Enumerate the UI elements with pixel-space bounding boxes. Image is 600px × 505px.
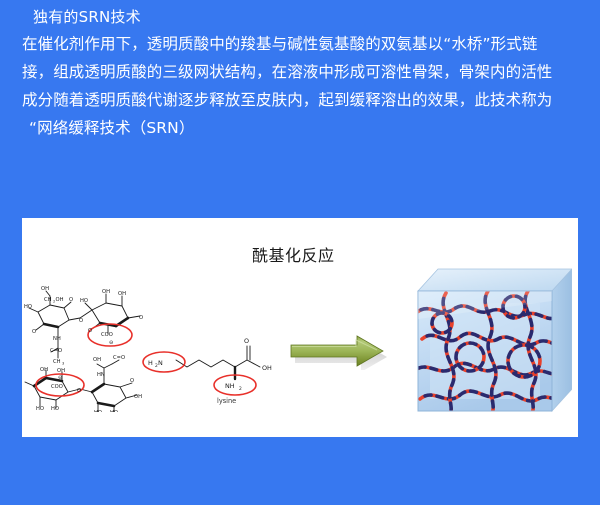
article-text-block: 独有的SRN技术 在催化剂作用下，透明质酸中的羧基与碱性氨基酸的双氨基以“水桥”… xyxy=(0,0,600,142)
figure-title: 酰基化反应 xyxy=(252,246,335,266)
hydrogel-network-cube xyxy=(406,261,572,425)
svg-text:C=O: C=O xyxy=(113,355,125,361)
svg-text:OH: OH xyxy=(102,289,110,295)
reactant-structures-diagram: HO OH CH2OH O O NH C=O CH3 O HO OH OH O … xyxy=(24,282,284,412)
svg-text:HO: HO xyxy=(110,410,118,412)
page-title: 独有的SRN技术 xyxy=(33,6,600,28)
svg-text:O: O xyxy=(139,315,143,321)
svg-text:HN: HN xyxy=(97,372,105,378)
svg-text:CH: CH xyxy=(53,359,61,365)
svg-text:3: 3 xyxy=(62,362,64,366)
svg-text:O: O xyxy=(130,378,134,384)
svg-text:O: O xyxy=(88,328,92,334)
svg-text:OH: OH xyxy=(262,364,272,372)
svg-text:N: N xyxy=(158,359,163,367)
body-line-1: 在催化剂作用下，透明质酸中的羧基与碱性氨基酸的双氨基以“水桥”形式链 xyxy=(22,30,576,58)
body-line-4: “网络缓释技术（SRN） xyxy=(22,114,576,142)
svg-text:HO: HO xyxy=(94,410,102,412)
cube-right-face xyxy=(552,269,572,411)
svg-text:OH: OH xyxy=(134,394,142,400)
svg-text:HO: HO xyxy=(51,406,59,412)
svg-text:NH: NH xyxy=(225,382,235,390)
svg-text:OH: OH xyxy=(40,367,48,373)
svg-text:HO: HO xyxy=(24,304,32,310)
article-body: 在催化剂作用下，透明质酸中的羧基与碱性氨基酸的双氨基以“水桥”形式链 接，组成透… xyxy=(0,30,600,142)
lysine-label: lysine xyxy=(217,397,236,405)
svg-text:⊖: ⊖ xyxy=(58,375,62,381)
svg-text:HO: HO xyxy=(80,298,88,304)
svg-text:H: H xyxy=(148,359,153,367)
svg-text:O: O xyxy=(79,318,83,324)
svg-text:OH: OH xyxy=(57,368,65,374)
body-line-3: 成分随着透明质酸代谢逐步释放至皮肤内，起到缓释溶出的效果，此技术称为 xyxy=(22,86,576,114)
svg-text:CH: CH xyxy=(44,297,52,303)
svg-text:⊖: ⊖ xyxy=(109,340,113,346)
svg-text:O: O xyxy=(32,329,36,335)
svg-text:C=O: C=O xyxy=(50,348,62,354)
svg-text:2: 2 xyxy=(239,386,242,392)
svg-text:O: O xyxy=(69,297,73,303)
svg-text:NH: NH xyxy=(53,336,61,342)
svg-text:OH: OH xyxy=(41,286,49,292)
reaction-arrow-icon xyxy=(289,334,387,370)
svg-text:OH: OH xyxy=(118,291,126,297)
svg-text:O: O xyxy=(244,337,249,345)
svg-text:COO: COO xyxy=(101,332,113,338)
slide-root: 独有的SRN技术 在催化剂作用下，透明质酸中的羧基与碱性氨基酸的双氨基以“水桥”… xyxy=(0,0,600,505)
cube-top-face xyxy=(418,269,572,291)
svg-text:OH: OH xyxy=(93,357,101,363)
svg-text:O: O xyxy=(77,388,81,394)
svg-text:OH: OH xyxy=(56,297,64,303)
svg-text:COO: COO xyxy=(51,384,63,390)
svg-text:HO: HO xyxy=(36,406,44,412)
body-line-2: 接，组成透明质酸的三级网状结构，在溶液中形成可溶性骨架，骨架内的活性 xyxy=(22,58,576,86)
